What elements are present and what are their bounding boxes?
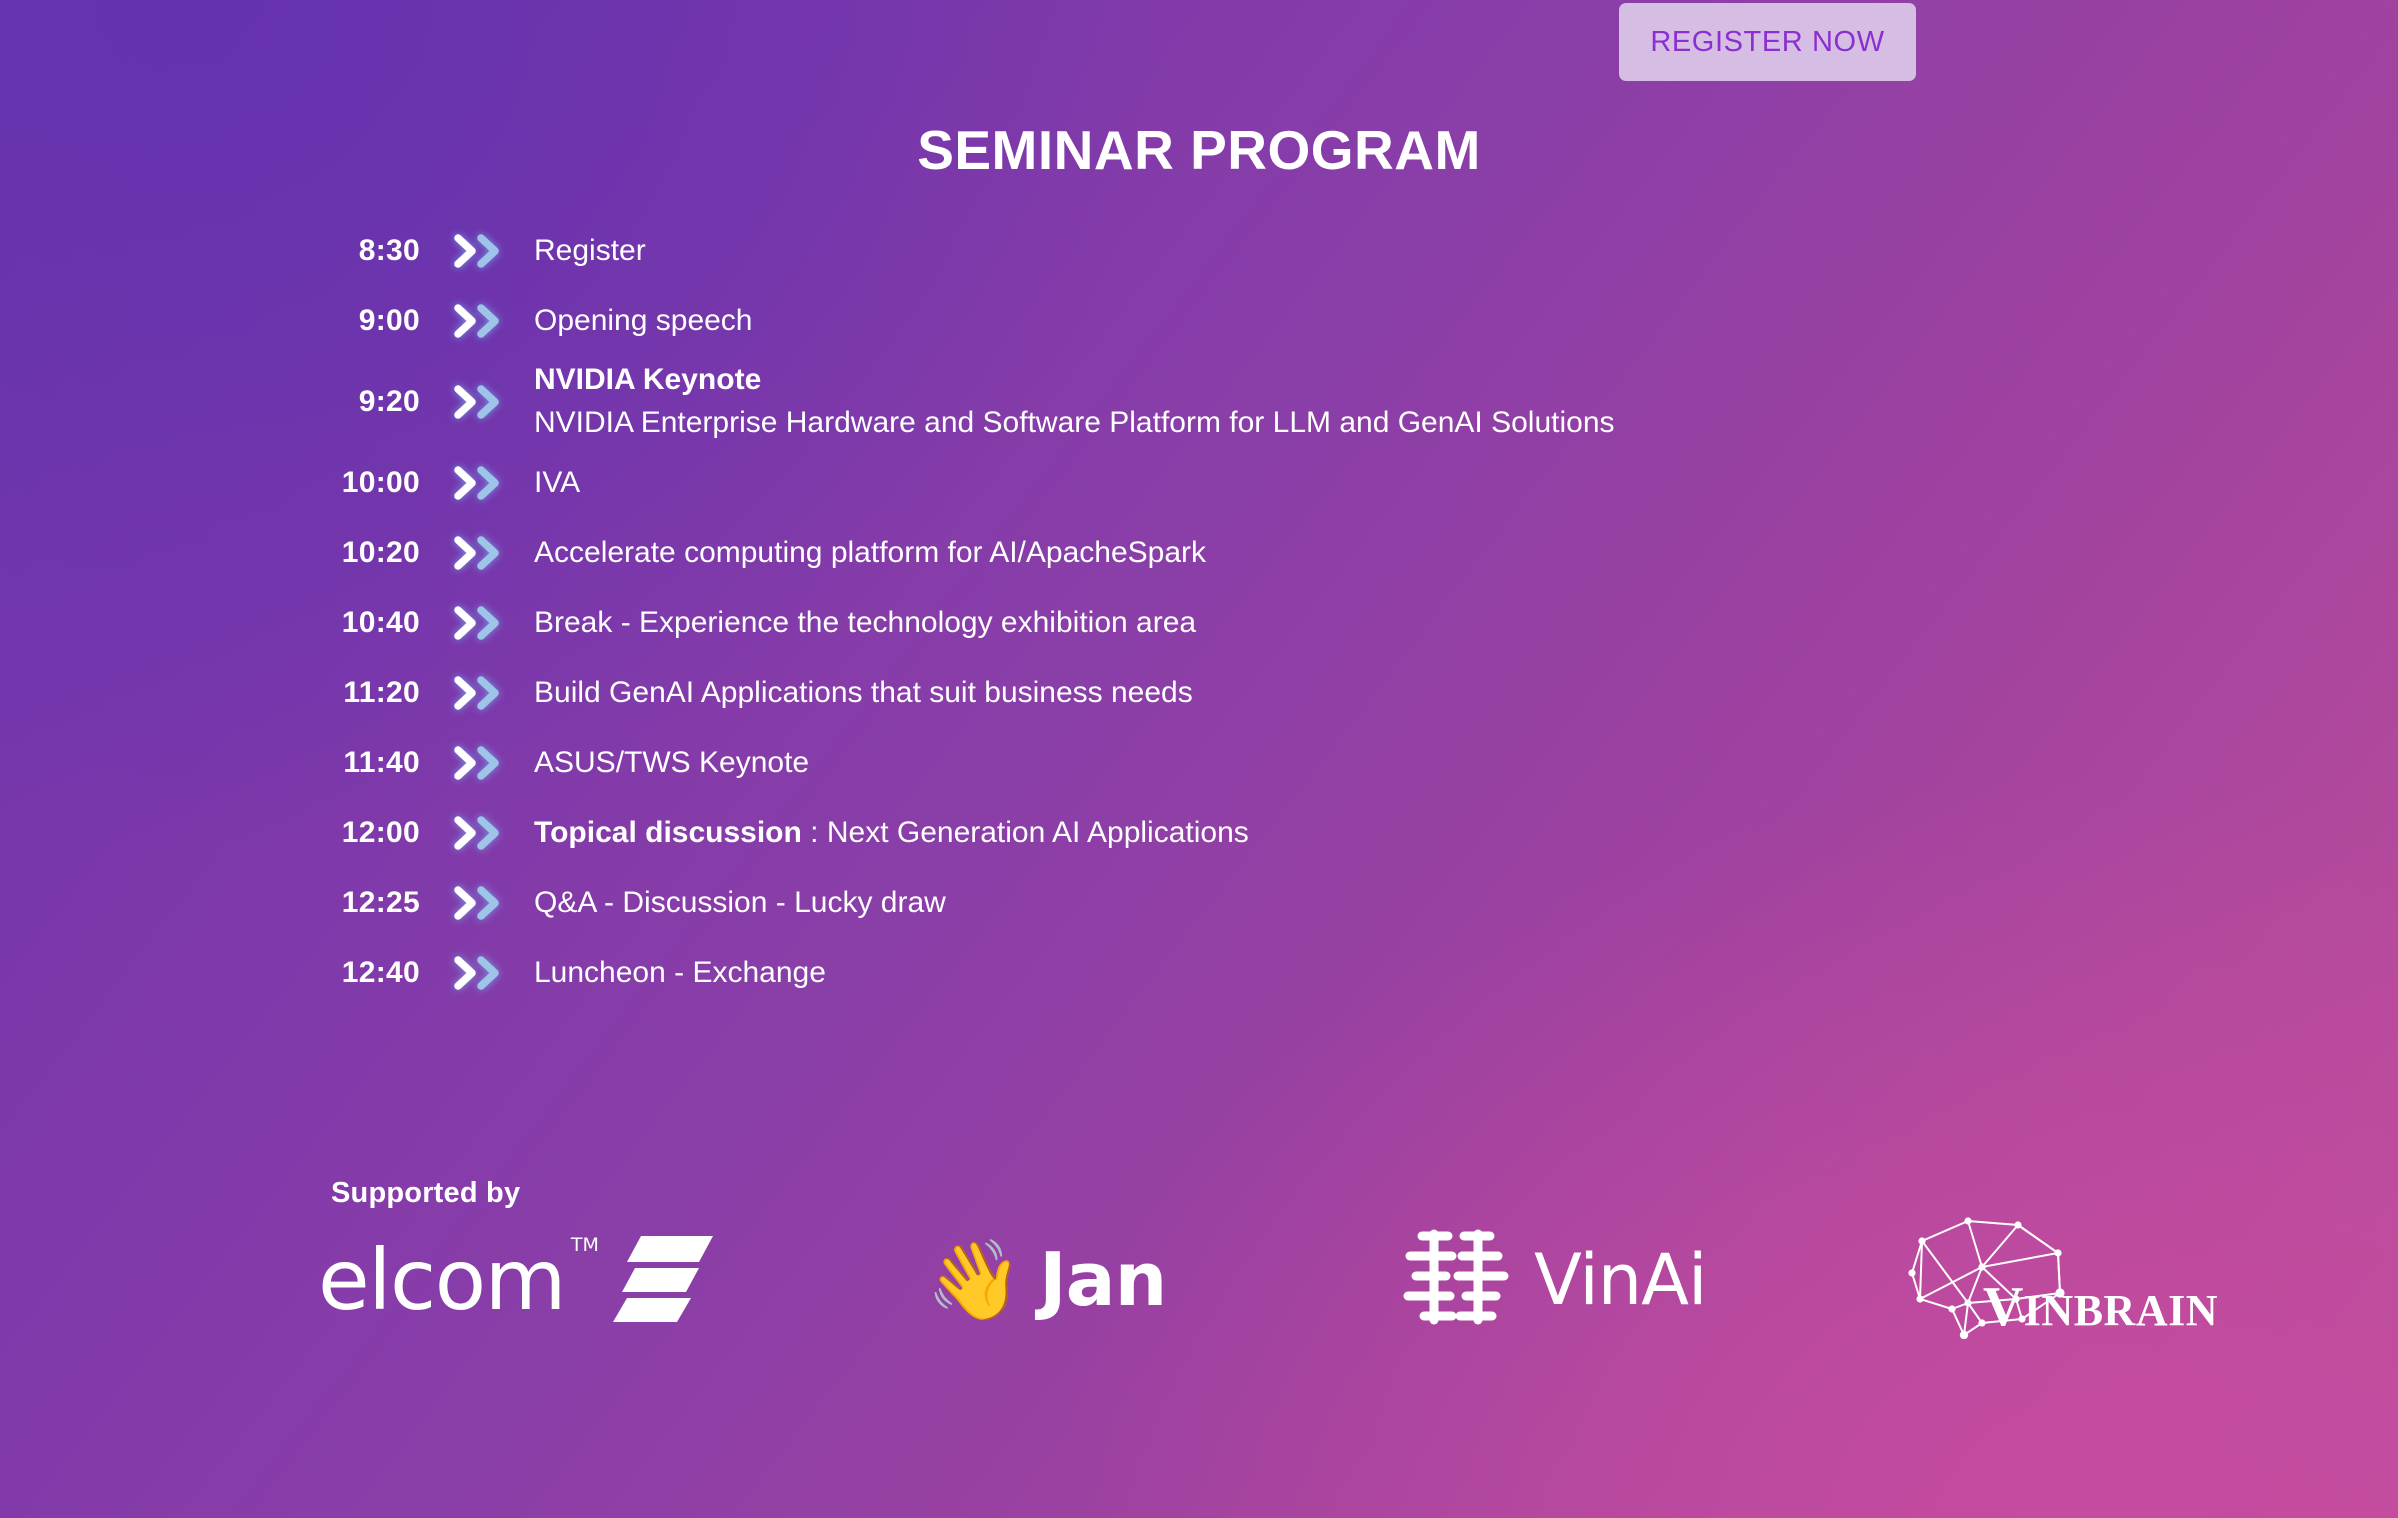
schedule-text: Register	[534, 230, 646, 273]
schedule-title: Opening speech	[534, 304, 753, 337]
schedule-title: Break - Experience the technology exhibi…	[534, 606, 1196, 639]
double-chevron-right-icon	[452, 464, 506, 502]
schedule-text: Build GenAI Applications that suit busin…	[534, 672, 1193, 715]
schedule-title: Build GenAI Applications that suit busin…	[534, 676, 1193, 709]
sponsor-logo-vinai: VinAi	[1260, 1215, 1740, 1345]
schedule-text: ASUS/TWS Keynote	[534, 742, 809, 785]
register-now-button[interactable]: REGISTER NOW	[1619, 3, 1916, 81]
schedule-time: 10:00	[334, 466, 420, 500]
schedule-text: Topical discussion : Next Generation AI …	[534, 812, 1249, 855]
schedule-title: Accelerate computing platform for AI/Apa…	[534, 536, 1206, 569]
schedule-title: IVA	[534, 466, 580, 499]
schedule-title: Register	[534, 234, 646, 267]
schedule-row: 10:00IVA	[0, 448, 2398, 518]
schedule-row: 11:20Build GenAI Applications that suit …	[0, 658, 2398, 728]
double-chevron-right-icon	[452, 674, 506, 712]
sponsor-logo-elcom: elcom TM	[300, 1215, 790, 1345]
schedule-text: Opening speech	[534, 300, 753, 343]
schedule-row: 10:20Accelerate computing platform for A…	[0, 518, 2398, 588]
double-chevron-right-icon	[452, 884, 506, 922]
schedule-time: 9:20	[334, 385, 420, 419]
schedule-time: 11:40	[334, 746, 420, 780]
elcom-word-text: elcom	[318, 1231, 565, 1329]
double-chevron-right-icon	[452, 232, 506, 270]
schedule-time: 12:40	[334, 956, 420, 990]
schedule-title: NVIDIA Keynote	[534, 363, 761, 396]
schedule-time: 8:30	[334, 234, 420, 268]
schedule-title: Luncheon - Exchange	[534, 956, 826, 989]
elcom-e-mark-icon	[613, 1232, 713, 1329]
vinbrain-initial: V	[1983, 1276, 2024, 1338]
schedule-row: 12:25Q&A - Discussion - Lucky draw	[0, 868, 2398, 938]
trademark-icon: TM	[571, 1236, 599, 1255]
double-chevron-right-icon	[452, 604, 506, 642]
double-chevron-right-icon	[452, 534, 506, 572]
jan-wordmark: Jan	[1039, 1237, 1166, 1323]
supported-by-label: Supported by	[331, 1177, 520, 1210]
schedule-row: 12:40Luncheon - Exchange	[0, 938, 2398, 1008]
schedule-row: 9:20NVIDIA KeynoteNVIDIA Enterprise Hard…	[0, 356, 2398, 448]
double-chevron-right-icon	[452, 814, 506, 852]
double-chevron-right-icon	[452, 954, 506, 992]
sponsor-logo-jan: 👋 Jan	[790, 1215, 1260, 1345]
schedule-text: Luncheon - Exchange	[534, 952, 826, 995]
schedule-time: 12:25	[334, 886, 420, 920]
sponsor-logo-vinbrain: VINBRAIN	[1740, 1215, 2210, 1345]
schedule-row: 12:00Topical discussion : Next Generatio…	[0, 798, 2398, 868]
schedule-title: Q&A - Discussion - Lucky draw	[534, 886, 946, 919]
waving-hand-icon: 👋	[926, 1241, 1023, 1319]
schedule-time: 10:40	[334, 606, 420, 640]
sponsor-logos: elcom TM 👋 Jan	[300, 1215, 2310, 1345]
schedule-row: 10:40Break - Experience the technology e…	[0, 588, 2398, 658]
schedule-text: IVA	[534, 462, 580, 505]
schedule-text: Q&A - Discussion - Lucky draw	[534, 882, 946, 925]
schedule-time: 12:00	[334, 816, 420, 850]
schedule-time: 9:00	[334, 304, 420, 338]
schedule-text: Break - Experience the technology exhibi…	[534, 602, 1196, 645]
schedule-title: ASUS/TWS Keynote	[534, 746, 809, 779]
vinai-wordmark: VinAi	[1534, 1239, 1707, 1321]
double-chevron-right-icon	[452, 744, 506, 782]
schedule-title-rest: : Next Generation AI Applications	[802, 816, 1249, 849]
elcom-wordmark: elcom TM	[318, 1238, 565, 1322]
vinbrain-wordmark: VINBRAIN	[1983, 1275, 2218, 1339]
vinai-circuit-mark-icon	[1400, 1224, 1516, 1337]
schedule-row: 11:40ASUS/TWS Keynote	[0, 728, 2398, 798]
schedule-subtitle: NVIDIA Enterprise Hardware and Software …	[534, 402, 1615, 445]
seminar-schedule-list: 8:30Register9:00Opening speech9:20NVIDIA…	[0, 216, 2398, 1008]
schedule-title: Topical discussion	[534, 816, 802, 849]
schedule-time: 10:20	[334, 536, 420, 570]
schedule-text: NVIDIA KeynoteNVIDIA Enterprise Hardware…	[534, 359, 1615, 444]
vinbrain-rest: INBRAIN	[2024, 1286, 2218, 1335]
double-chevron-right-icon	[452, 383, 506, 421]
schedule-row: 9:00Opening speech	[0, 286, 2398, 356]
schedule-row: 8:30Register	[0, 216, 2398, 286]
schedule-text: Accelerate computing platform for AI/Apa…	[534, 532, 1206, 575]
double-chevron-right-icon	[452, 302, 506, 340]
page-title: SEMINAR PROGRAM	[0, 118, 2398, 182]
schedule-time: 11:20	[334, 676, 420, 710]
